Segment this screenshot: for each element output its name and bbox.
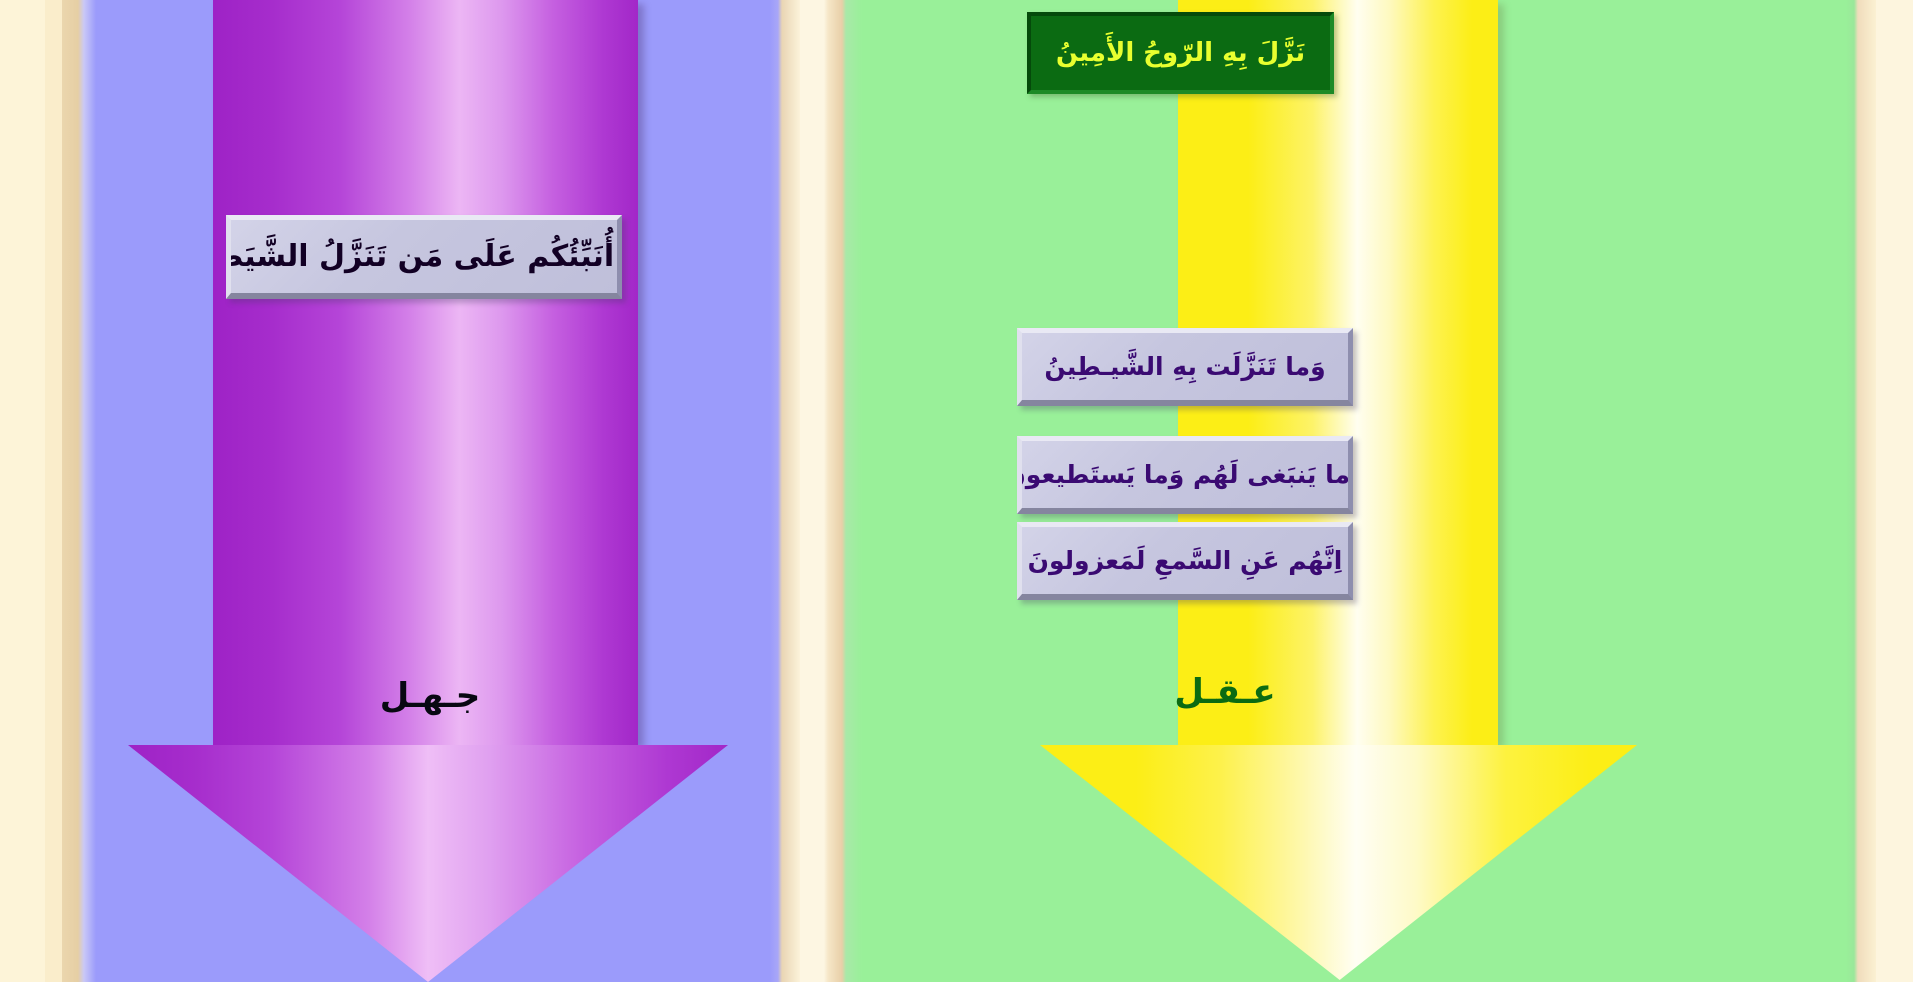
banner-aql-title-text: نَزَّلَ بِهِ الرّوحُ الأَمِينُ	[1056, 40, 1305, 66]
verse-text-aql-2: وَما يَنبَغى لَهُم وَما يَستَطيعونَ	[1017, 462, 1353, 487]
arrow-caption-jahl: جـهـل	[330, 676, 530, 716]
arrow-head-jahl	[128, 745, 728, 982]
arrow-shaft-jahl	[213, 0, 638, 745]
verse-text-aql-1: وَما تَنَزَّلَت بِهِ الشَّيـطِينُ	[1044, 354, 1325, 379]
verse-text-jahl-1: هَل أُنَبِّئُكُم عَلَى مَن تَنَزَّلُ الش…	[226, 242, 622, 272]
verse-plaque-jahl-1: هَل أُنَبِّئُكُم عَلَى مَن تَنَزَّلُ الش…	[226, 215, 622, 299]
arrow-caption-aql: عـقـل	[1125, 672, 1325, 712]
verse-text-aql-3: اِنَّهُم عَنِ السَّمعِ لَمَعزولونَ	[1028, 548, 1343, 573]
verse-plaque-aql-2: وَما يَنبَغى لَهُم وَما يَستَطيعونَ	[1017, 436, 1353, 514]
verse-plaque-aql-1: وَما تَنَزَّلَت بِهِ الشَّيـطِينُ	[1017, 328, 1353, 406]
banner-aql-title: نَزَّلَ بِهِ الرّوحُ الأَمِينُ	[1027, 12, 1334, 94]
verse-plaque-aql-3: اِنَّهُم عَنِ السَّمعِ لَمَعزولونَ	[1017, 522, 1353, 600]
down-arrow-jahl	[0, 0, 780, 982]
arrow-head-aql	[1040, 745, 1637, 980]
